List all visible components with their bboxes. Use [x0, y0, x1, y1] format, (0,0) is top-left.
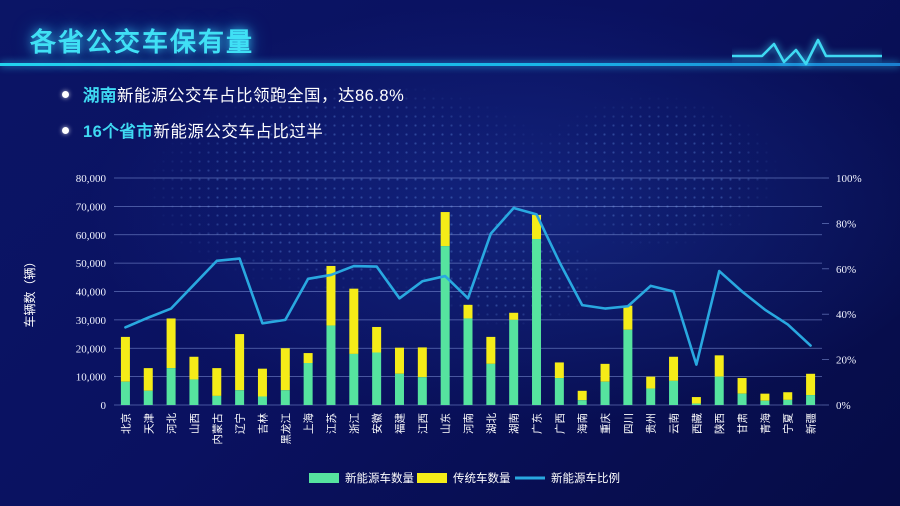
bar-new-energy	[578, 400, 587, 405]
list-item: 16个省市新能源公交车占比过半	[62, 118, 682, 142]
bar-new-energy	[715, 377, 724, 405]
x-axis-category-label: 江苏	[325, 413, 338, 434]
bar-traditional	[669, 357, 678, 381]
bar-new-energy	[509, 320, 518, 405]
bar-traditional	[464, 305, 473, 319]
secondary-y-axis-tick-label: 0%	[836, 400, 851, 412]
x-axis-category-label: 湖北	[486, 413, 498, 434]
bar-new-energy	[806, 395, 815, 405]
x-axis-category-label: 江西	[417, 413, 429, 434]
legend-label: 新能源车数量	[345, 471, 414, 485]
bar-new-energy	[669, 381, 678, 405]
x-axis-category-label: 安徽	[371, 413, 384, 434]
page-title: 各省公交车保有量	[30, 22, 254, 59]
y-axis-title-text: 车辆数（辆）	[22, 255, 37, 327]
chart-legend: 新能源车数量传统车数量新能源车比例	[309, 471, 620, 485]
legend-label: 新能源车比例	[551, 471, 620, 485]
bar-traditional	[601, 364, 610, 382]
bar-new-energy	[418, 377, 427, 405]
secondary-y-axis-tick-label: 20%	[836, 355, 856, 367]
bar-traditional	[304, 353, 313, 363]
bar-traditional	[738, 378, 747, 394]
bar-traditional	[578, 391, 587, 400]
bar-traditional	[715, 355, 724, 376]
bar-traditional	[692, 397, 701, 404]
x-axis-category-label: 黑龙江	[279, 413, 292, 445]
x-axis-category-label: 山东	[439, 413, 452, 434]
bullet-highlight: 湖南	[83, 87, 117, 105]
bar-traditional	[418, 347, 427, 377]
bar-new-energy	[783, 400, 792, 405]
bar-new-energy	[760, 401, 769, 405]
bar-traditional	[235, 334, 244, 390]
bar-new-energy	[281, 390, 290, 405]
bullet-text: 16个省市新能源公交车占比过半	[83, 118, 323, 142]
bar-traditional	[806, 374, 815, 395]
secondary-y-axis-tick-label: 40%	[836, 309, 856, 321]
bullet-rest: 新能源公交车占比领跑全国，达86.8%	[117, 87, 404, 105]
bar-new-energy	[349, 354, 358, 405]
y-axis-tick-label: 70,000	[76, 201, 107, 213]
x-axis-category-label: 甘肃	[736, 413, 749, 434]
x-axis-category-label: 西藏	[691, 413, 703, 434]
y-axis-tick-label: 40,000	[76, 287, 107, 299]
y-axis-tick-label: 10,000	[76, 372, 107, 384]
bar-traditional	[783, 392, 792, 400]
bar-new-energy	[441, 246, 450, 405]
ekg-line-icon	[732, 24, 882, 70]
x-axis-category-label: 吉林	[256, 413, 269, 434]
bar-new-energy	[189, 379, 198, 405]
y-axis-title: 车辆数（辆）	[22, 255, 37, 327]
bullet-dot-icon	[62, 127, 69, 134]
bar-traditional	[760, 394, 769, 401]
bar-new-energy	[738, 394, 747, 405]
y-axis-tick-label: 30,000	[76, 315, 107, 327]
x-axis-category-label: 河北	[166, 413, 178, 434]
bar-new-energy	[326, 326, 335, 405]
x-axis-category-label: 福建	[393, 413, 406, 434]
y-axis-tick-label: 20,000	[76, 343, 107, 355]
bar-new-energy	[646, 389, 655, 405]
bus-fleet-combo-chart: 010,00020,00030,00040,00050,00060,00070,…	[0, 160, 900, 506]
secondary-y-axis-tick-label: 60%	[836, 264, 856, 276]
bar-traditional	[121, 337, 130, 382]
x-axis-category-label: 陕西	[713, 413, 726, 434]
bar-new-energy	[486, 364, 495, 405]
bar-traditional	[212, 368, 221, 396]
bullet-dot-icon	[62, 91, 69, 98]
bar-new-energy	[235, 390, 244, 405]
bar-traditional	[167, 318, 176, 368]
bar-new-energy	[372, 353, 381, 405]
bar-traditional	[441, 212, 450, 246]
x-axis-category-label: 内蒙古	[211, 413, 224, 445]
x-axis-category-label: 新疆	[805, 413, 818, 434]
bar-traditional	[281, 348, 290, 390]
bar-traditional	[623, 306, 632, 330]
bar-new-energy	[395, 374, 404, 405]
y-axis-tick-label: 60,000	[76, 230, 107, 242]
x-axis-category-label: 海南	[576, 413, 589, 434]
secondary-y-axis-tick-label: 80%	[836, 218, 856, 230]
bar-new-energy	[555, 378, 564, 405]
bar-new-energy	[623, 330, 632, 405]
x-axis-category-label: 青海	[759, 413, 772, 434]
bullet-rest: 新能源公交车占比过半	[153, 123, 323, 141]
x-axis-category-label: 广西	[554, 413, 566, 434]
x-axis-category-labels: 北京天津河北山西内蒙古辽宁吉林黑龙江上海江苏浙江安徽福建江西山东河南湖北湖南广东…	[119, 413, 817, 445]
x-axis-category-label: 河南	[462, 413, 475, 434]
secondary-y-axis-tick-labels: 0%20%40%60%80%100%	[822, 173, 862, 412]
bar-new-energy	[304, 363, 313, 405]
bullet-highlight: 16个省市	[83, 123, 153, 141]
bar-new-energy	[121, 382, 130, 405]
x-axis-category-label: 辽宁	[234, 413, 247, 434]
x-axis-category-label: 山西	[189, 413, 201, 434]
x-axis-category-label: 北京	[119, 413, 132, 434]
chart-canvas: 010,00020,00030,00040,00050,00060,00070,…	[0, 160, 900, 506]
bar-new-energy	[258, 396, 267, 405]
x-axis-category-label: 广东	[531, 413, 544, 434]
bar-new-energy	[167, 368, 176, 405]
bullet-text: 湖南新能源公交车占比领跑全国，达86.8%	[83, 82, 404, 106]
bar-new-energy	[144, 391, 153, 405]
x-axis-category-label: 宁夏	[782, 413, 795, 434]
y-axis-tick-label: 50,000	[76, 258, 107, 270]
list-item: 湖南新能源公交车占比领跑全国，达86.8%	[62, 82, 682, 106]
y-axis-tick-label: 80,000	[76, 173, 107, 185]
legend-swatch	[417, 473, 447, 483]
legend-swatch	[309, 473, 339, 483]
legend-label: 传统车数量	[453, 471, 511, 485]
bar-traditional	[349, 289, 358, 354]
x-axis-category-label: 贵州	[645, 413, 658, 434]
bar-new-energy	[692, 404, 701, 405]
x-axis-category-label: 天津	[143, 413, 155, 434]
y-axis-tick-label: 0	[101, 400, 107, 412]
bar-traditional	[258, 369, 267, 397]
bar-traditional	[189, 357, 198, 380]
bar-traditional	[555, 362, 564, 378]
x-axis-category-label: 浙江	[349, 413, 361, 434]
x-axis-category-label: 云南	[668, 413, 681, 434]
slide-root: 各省公交车保有量 湖南新能源公交车占比领跑全国，达86.8% 16个省市新能源公…	[0, 0, 900, 506]
x-axis-category-label: 重庆	[599, 413, 612, 434]
bar-new-energy	[601, 382, 610, 405]
secondary-y-axis-tick-label: 100%	[836, 173, 862, 185]
y-axis-tick-labels: 010,00020,00030,00040,00050,00060,00070,…	[76, 173, 107, 412]
bar-traditional	[486, 337, 495, 364]
bar-traditional	[646, 377, 655, 389]
bar-new-energy	[464, 318, 473, 405]
bar-new-energy	[532, 239, 541, 405]
x-axis-category-label: 湖南	[508, 413, 521, 434]
bar-new-energy	[212, 396, 221, 405]
bar-traditional	[395, 348, 404, 374]
bar-traditional	[509, 313, 518, 320]
x-axis-category-label: 上海	[302, 413, 315, 434]
x-axis-category-label: 四川	[623, 413, 635, 434]
bar-traditional	[372, 327, 381, 353]
bar-traditional	[144, 368, 153, 391]
bullet-list: 湖南新能源公交车占比领跑全国，达86.8% 16个省市新能源公交车占比过半	[62, 82, 682, 154]
